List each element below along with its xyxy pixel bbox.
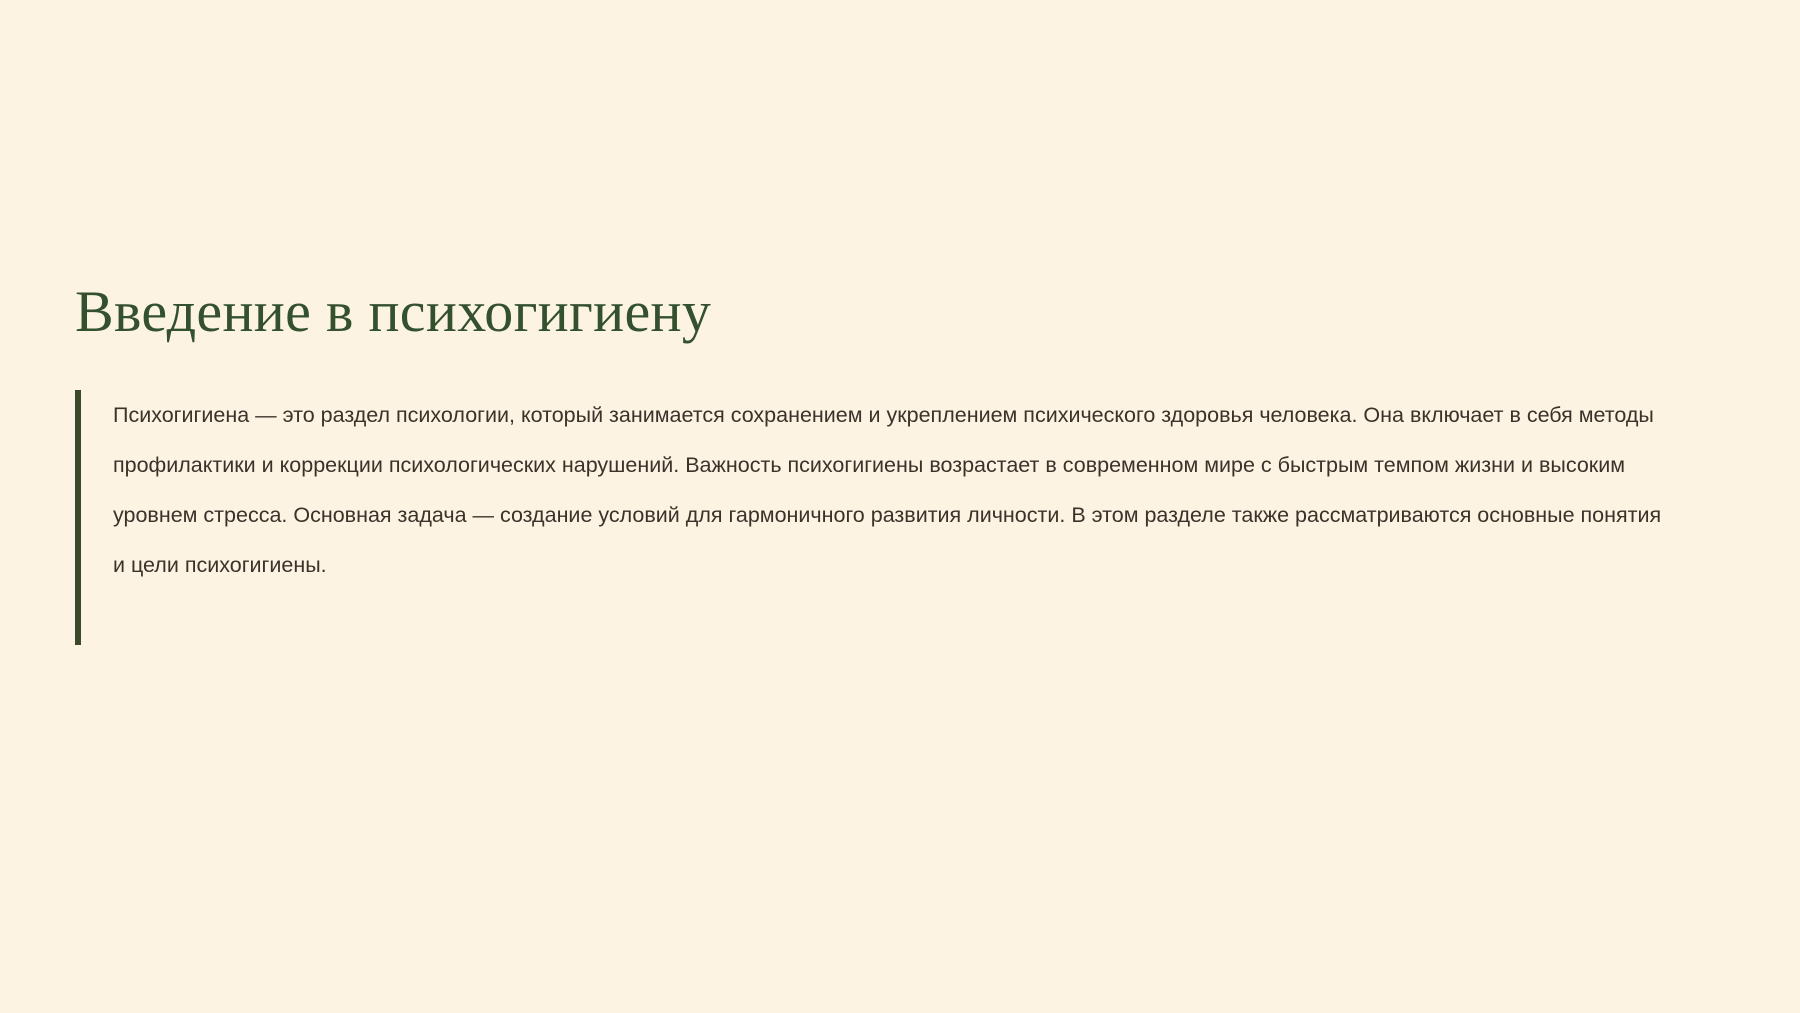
content-block: Введение в психогигиену Психогигиена — э… — [75, 280, 1735, 645]
intro-callout: Психогигиена — это раздел психологии, ко… — [75, 390, 1735, 645]
slide-canvas: Введение в психогигиену Психогигиена — э… — [0, 0, 1800, 1013]
accent-bar — [75, 390, 81, 645]
intro-paragraph: Психогигиена — это раздел психологии, ко… — [113, 390, 1673, 590]
page-title: Введение в психогигиену — [75, 280, 1735, 345]
